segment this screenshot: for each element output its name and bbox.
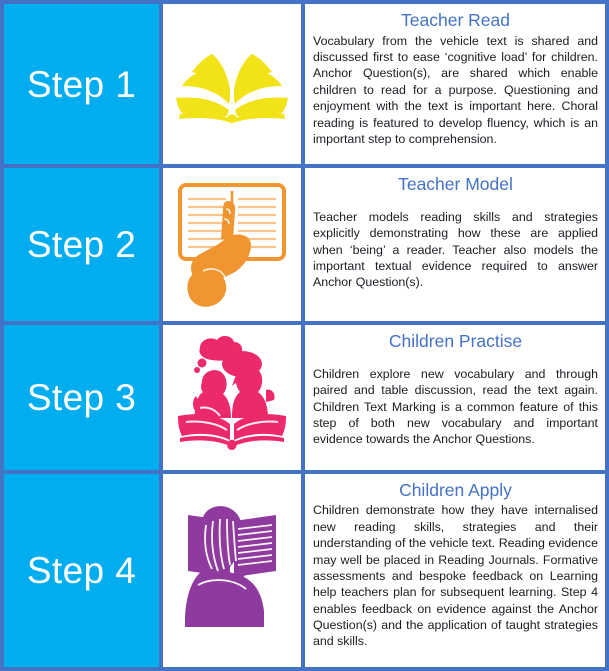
step-heading: Teacher Model — [313, 174, 598, 195]
step-heading: Children Practise — [313, 331, 598, 352]
two-children-talking-over-book-pink-icon — [170, 332, 294, 464]
step-text-cell-1: Teacher Read Vocabulary from the vehicle… — [305, 4, 605, 164]
step-text-cell-3: Children Practise Children explore new v… — [305, 325, 605, 469]
step-icon-cell-3 — [163, 325, 301, 469]
open-book-yellow-icon — [172, 30, 292, 138]
child-reading-book-purple-icon — [172, 499, 292, 641]
step-body: Children demonstrate how they have inter… — [313, 502, 598, 649]
step-icon-cell-2 — [163, 168, 301, 321]
reading-steps-infographic: Step 1 — [0, 0, 609, 671]
step-row: Step 2 — [4, 168, 605, 321]
step-row: Step 3 — [4, 325, 605, 469]
step-text-cell-4: Children Apply Children demonstrate how … — [305, 474, 605, 667]
step-body: Vocabulary from the vehicle text is shar… — [313, 33, 598, 148]
step-text-cell-2: Teacher Model Teacher models reading ski… — [305, 168, 605, 321]
step-label-cell-3: Step 3 — [4, 325, 159, 469]
step-label-cell-4: Step 4 — [4, 474, 159, 667]
step-heading: Children Apply — [313, 480, 598, 501]
step-row: Step 4 — [4, 474, 605, 667]
step-icon-cell-1 — [163, 4, 301, 164]
step-label-text: Step 4 — [27, 552, 136, 589]
step-icon-cell-4 — [163, 474, 301, 667]
step-label-text: Step 2 — [27, 226, 136, 263]
step-label-text: Step 1 — [27, 66, 136, 103]
step-body: Children explore new vocabulary and thro… — [313, 366, 598, 448]
step-row: Step 1 — [4, 4, 605, 164]
step-body: Teacher models reading skills and strate… — [313, 209, 598, 291]
hand-pointing-at-book-orange-icon — [173, 175, 291, 315]
step-label-cell-2: Step 2 — [4, 168, 159, 321]
step-label-cell-1: Step 1 — [4, 4, 159, 164]
step-heading: Teacher Read — [313, 10, 598, 31]
steps-grid: Step 1 — [0, 0, 609, 671]
step-label-text: Step 3 — [27, 379, 136, 416]
